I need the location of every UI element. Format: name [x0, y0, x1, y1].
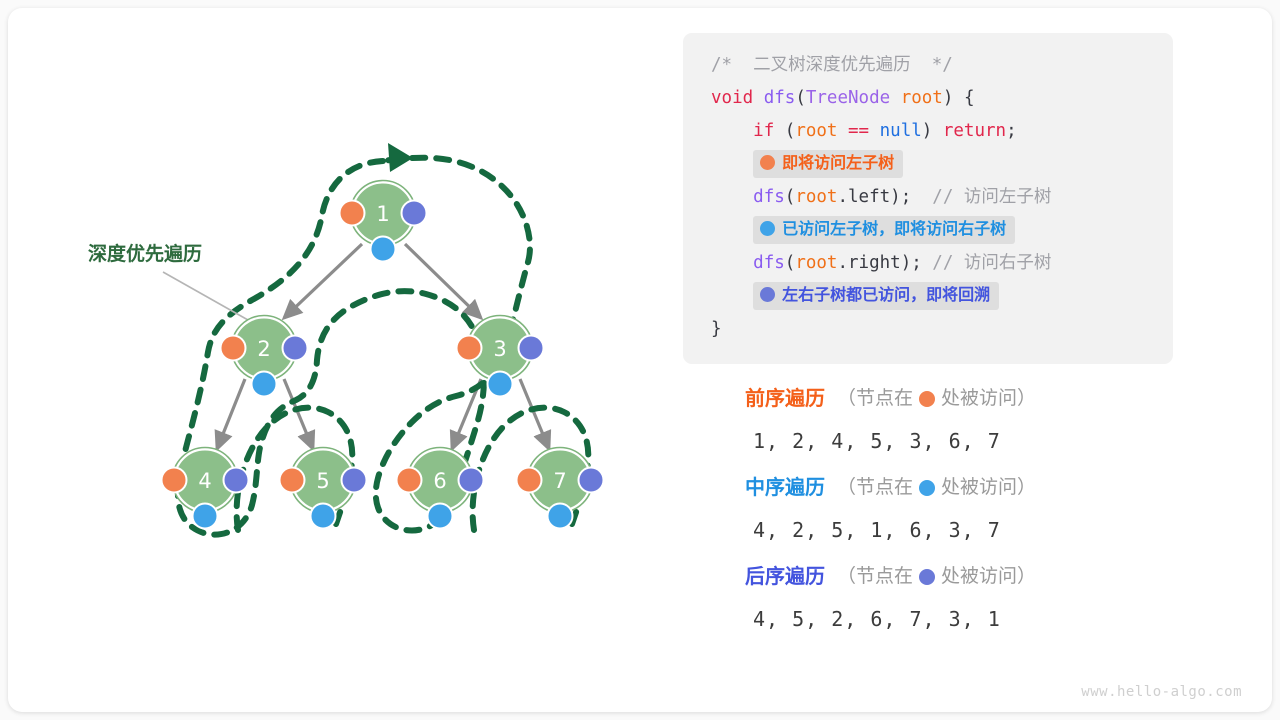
code-paren2: ) [943, 88, 954, 108]
tree-node-1[interactable]: 1 [340, 181, 427, 262]
in-order-dot [428, 504, 453, 529]
badge-post-text: 左右子树都已访问，即将回溯 [782, 287, 990, 304]
preorder-note-before: （节点在 [837, 380, 913, 418]
edge-2-5 [284, 379, 313, 449]
postorder-note-after: 处被访问） [941, 558, 1036, 596]
traversal-results: 前序遍历 （节点在 处被访问） 1, 2, 4, 5, 3, 6, 7 中序遍历… [745, 380, 1205, 647]
post-order-dot [224, 468, 249, 493]
node-value: 1 [376, 202, 389, 226]
inorder-title-row: 中序遍历 （节点在 处被访问） [745, 469, 1205, 507]
code-right-paren2: ); [901, 253, 922, 273]
tree-node-5[interactable]: 5 [280, 448, 367, 529]
code-keyword-if: if [753, 121, 774, 141]
in-order-dot [488, 372, 513, 397]
preorder-title: 前序遍历 [745, 380, 825, 418]
code-block: /* 二叉树深度优先遍历 */ void dfs(TreeNode root) … [683, 33, 1173, 364]
code-left-paren2: ); [890, 187, 911, 207]
code-semi: ; [1006, 121, 1017, 141]
inorder-dot-icon [919, 480, 935, 496]
pre-order-dot [221, 336, 246, 361]
postorder-note-before: （节点在 [837, 558, 913, 596]
code-null: null [880, 121, 922, 141]
edge-2-4 [217, 379, 245, 449]
code-param-root: root [901, 88, 943, 108]
code-fn-dfs-right: dfs [753, 253, 785, 273]
pre-order-dot [397, 468, 422, 493]
code-if-var: root [795, 121, 837, 141]
edge-1-3 [405, 244, 481, 318]
code-space2 [890, 88, 901, 108]
in-order-dot-icon [760, 221, 775, 236]
edge-3-7 [520, 379, 549, 449]
post-order-dot-icon [760, 287, 775, 302]
post-order-dot [342, 468, 367, 493]
code-paren: ( [795, 88, 806, 108]
pre-order-dot [340, 201, 365, 226]
postorder-title: 后序遍历 [745, 558, 825, 596]
code-right-var: root [795, 253, 837, 273]
result-group-postorder: 后序遍历 （节点在 处被访问） 4, 5, 2, 6, 7, 3, 1 [745, 558, 1205, 642]
diagram-canvas: 深度优先遍历 1 2 [0, 0, 1280, 720]
code-keyword-void: void [711, 88, 753, 108]
node-value: 3 [493, 337, 506, 361]
code-brace-open: { [953, 88, 974, 108]
code-left-paren: ( [785, 187, 796, 207]
code-if-paren: ( [774, 121, 795, 141]
pre-order-dot [162, 468, 187, 493]
code-space [753, 88, 764, 108]
play-triangle-icon [388, 143, 413, 172]
in-order-dot [193, 504, 218, 529]
node-value: 6 [433, 469, 446, 493]
badge-post-order: 左右子树都已访问，即将回溯 [753, 282, 999, 310]
pre-order-dot-icon [760, 155, 775, 170]
badge-in-text: 已访问左子树，即将访问右子树 [782, 221, 1006, 238]
code-brace-close: } [711, 319, 722, 339]
badge-in-order: 已访问左子树，即将访问右子树 [753, 216, 1015, 244]
preorder-dot-icon [919, 391, 935, 407]
inorder-note: （节点在 处被访问） [837, 469, 1036, 507]
node-value: 2 [257, 337, 270, 361]
code-left-var: root [795, 187, 837, 207]
code-fn-dfs-left: dfs [753, 187, 785, 207]
code-right-paren: ( [785, 253, 796, 273]
node-value: 4 [198, 469, 211, 493]
preorder-note-after: 处被访问） [941, 380, 1036, 418]
result-group-inorder: 中序遍历 （节点在 处被访问） 4, 2, 5, 1, 6, 3, 7 [745, 469, 1205, 553]
post-order-dot [402, 201, 427, 226]
postorder-note: （节点在 处被访问） [837, 558, 1036, 596]
post-order-dot [283, 336, 308, 361]
pre-order-dot [517, 468, 542, 493]
node-value: 5 [316, 469, 329, 493]
inorder-title: 中序遍历 [745, 469, 825, 507]
code-left-comment: // 访问左子树 [911, 187, 1051, 207]
in-order-dot [548, 504, 573, 529]
in-order-dot [311, 504, 336, 529]
inorder-sequence: 4, 2, 5, 1, 6, 3, 7 [745, 507, 1205, 553]
code-op-eq: == [837, 121, 879, 141]
binary-tree-diagram: 深度优先遍历 1 2 [0, 0, 660, 704]
postorder-dot-icon [919, 569, 935, 585]
node-value: 7 [553, 469, 566, 493]
code-right-comment: // 访问右子树 [922, 253, 1052, 273]
code-if-paren2: ) [922, 121, 943, 141]
dfs-leader-line [163, 272, 248, 320]
postorder-sequence: 4, 5, 2, 6, 7, 3, 1 [745, 596, 1205, 642]
code-type-treenode: TreeNode [806, 88, 890, 108]
badge-pre-order: 即将访问左子树 [753, 150, 903, 178]
preorder-sequence: 1, 2, 4, 5, 3, 6, 7 [745, 418, 1205, 464]
preorder-note: （节点在 处被访问） [837, 380, 1036, 418]
post-order-dot [459, 468, 484, 493]
pre-order-dot [457, 336, 482, 361]
badge-pre-text: 即将访问左子树 [782, 155, 894, 172]
watermark: www.hello-algo.com [1081, 684, 1242, 700]
code-right-prop: .right [837, 253, 900, 273]
code-left-prop: .left [837, 187, 890, 207]
result-group-preorder: 前序遍历 （节点在 处被访问） 1, 2, 4, 5, 3, 6, 7 [745, 380, 1205, 464]
pre-order-dot [280, 468, 305, 493]
code-fn-dfs: dfs [764, 88, 796, 108]
edge-1-2 [284, 244, 362, 318]
inorder-note-after: 处被访问） [941, 469, 1036, 507]
code-keyword-return: return [943, 121, 1006, 141]
tree-svg: 深度优先遍历 1 2 [0, 0, 660, 704]
postorder-title-row: 后序遍历 （节点在 处被访问） [745, 558, 1205, 596]
post-order-dot [579, 468, 604, 493]
in-order-dot [371, 237, 396, 262]
tree-node-2[interactable]: 2 [221, 316, 308, 397]
inorder-note-before: （节点在 [837, 469, 913, 507]
tree-node-7[interactable]: 7 [517, 448, 604, 529]
in-order-dot [252, 372, 277, 397]
dfs-label: 深度优先遍历 [88, 242, 202, 265]
post-order-dot [519, 336, 544, 361]
code-comment-title: /* 二叉树深度优先遍历 */ [711, 55, 953, 75]
preorder-title-row: 前序遍历 （节点在 处被访问） [745, 380, 1205, 418]
